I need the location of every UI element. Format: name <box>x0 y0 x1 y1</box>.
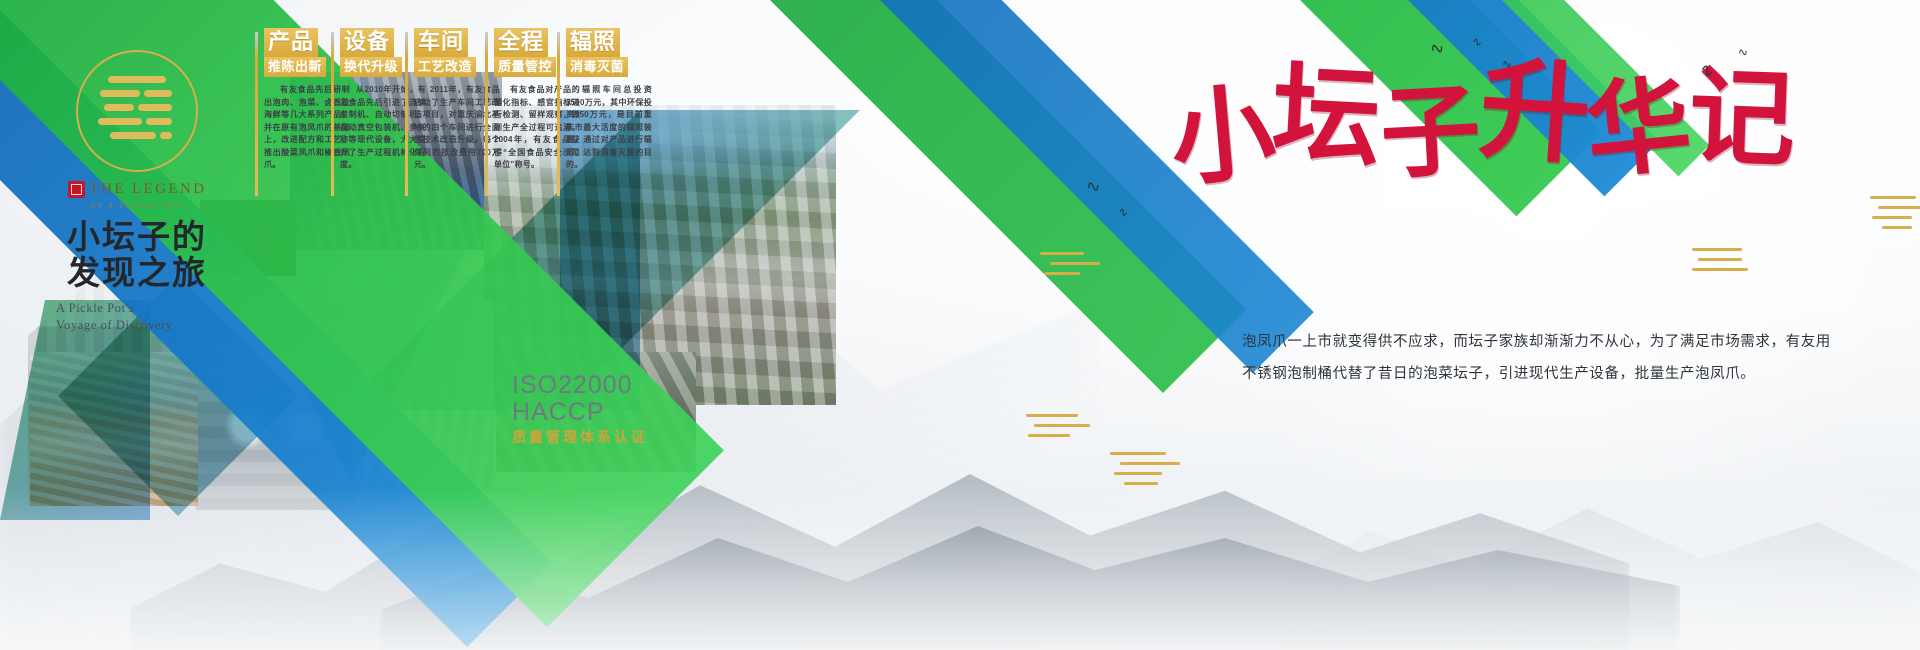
calligraphy-char-5: 华 <box>1582 73 1696 187</box>
column-rule <box>255 32 258 196</box>
pickle-pot-emblem-icon <box>76 50 198 172</box>
mountain-right-layer <box>1280 430 1920 650</box>
gold-swirl-lower <box>1026 414 1090 448</box>
brand-subtitle-en-line2: Voyage of Discovery <box>52 317 222 334</box>
info-column-irradiation: 辐照 消毒灭菌 辐照车间总投资3500万元，其中环保投资550万元，是目前重庆市… <box>566 28 652 172</box>
column-subheading: 质量管控 <box>494 57 556 77</box>
info-column-product: 产品 推陈出新 有友食品先后研制出泡肉、泡菜、卤香及海鲜等几大系列产品，并在原有… <box>264 28 350 172</box>
calligraphy-char-6: 记 <box>1687 65 1797 175</box>
bird-icon-7: ∿ <box>1116 203 1130 222</box>
brand-title-cn-line2: 发现之旅 <box>52 255 222 291</box>
column-rule <box>331 32 334 196</box>
column-subheading: 消毒灭菌 <box>566 57 628 77</box>
column-rule <box>557 32 560 196</box>
column-heading: 车间 <box>414 28 468 57</box>
column-heading: 设备 <box>340 28 394 57</box>
brand-subtitle-en-line1: A Pickle Pot's <box>52 300 222 317</box>
calligraphy-char-3: 子 <box>1378 82 1483 187</box>
cert-haccp-standard: HACCP <box>512 399 648 426</box>
gold-swirl-right <box>1870 196 1920 236</box>
bird-icon-6: ∿ <box>1085 177 1102 196</box>
poster-canvas: THE LEGEND OF A PICKLE POT 小坛子的 发现之旅 A P… <box>0 0 1920 650</box>
cert-label-cn: 质量管理体系认证 <box>512 429 648 445</box>
column-subheading: 换代升级 <box>340 57 402 77</box>
brand-name-en: THE LEGEND <box>90 181 207 198</box>
hero-calligraphy-title: 小坛子升华记 <box>1170 72 1830 202</box>
brand-wordmark-row: THE LEGEND <box>52 181 222 199</box>
certification-block: ISO22000 HACCP 质量管理体系认证 <box>512 372 648 445</box>
calligraphy-char-1: 小 <box>1167 82 1280 195</box>
column-body: 辐照车间总投资3500万元，其中环保投资550万元，是目前重庆市最大活度的辐照装… <box>566 84 652 172</box>
brand-title-cn-line1: 小坛子的 <box>52 219 222 255</box>
column-badge: 产品 推陈出新 <box>264 28 350 77</box>
brand-tagline-en: OF A PICKLE POT <box>52 201 222 210</box>
gold-swirl-bottom <box>1110 452 1180 492</box>
column-heading: 全程 <box>494 28 548 57</box>
hero-paragraph: 泡凤爪一上市就变得供不应求，而坛子家族却渐渐力不从心，为了满足市场需求，有友用不… <box>1242 326 1838 390</box>
column-subheading: 工艺改造 <box>414 57 476 77</box>
cert-iso-standard: ISO22000 <box>512 372 648 399</box>
gold-swirl-mid-right <box>1692 248 1752 282</box>
column-rule <box>405 32 408 196</box>
brand-logo-block: THE LEGEND OF A PICKLE POT 小坛子的 发现之旅 A P… <box>52 50 222 334</box>
column-rule <box>485 32 488 196</box>
calligraphy-char-2: 坛 <box>1269 61 1383 175</box>
column-badge: 辐照 消毒灭菌 <box>566 28 652 77</box>
gold-swirl-left <box>1040 252 1100 286</box>
red-seal-icon <box>68 181 85 198</box>
calligraphy-char-4: 升 <box>1476 55 1594 173</box>
bird-icon-5: ∿ <box>1736 43 1750 62</box>
bird-icon-2: ∿ <box>1470 33 1483 52</box>
column-heading: 产品 <box>264 28 318 57</box>
column-body: 有友食品先后研制出泡肉、泡菜、卤香及海鲜等几大系列产品，并在原有泡凤爪的基础上，… <box>264 84 350 172</box>
bottom-fade <box>0 490 1920 650</box>
column-subheading: 推陈出新 <box>264 57 326 77</box>
bird-icon-1: ∿ <box>1428 38 1447 59</box>
column-heading: 辐照 <box>566 28 620 57</box>
mountain-near-layer <box>380 470 1680 650</box>
bird-icon-3: ∿ <box>1501 55 1513 73</box>
